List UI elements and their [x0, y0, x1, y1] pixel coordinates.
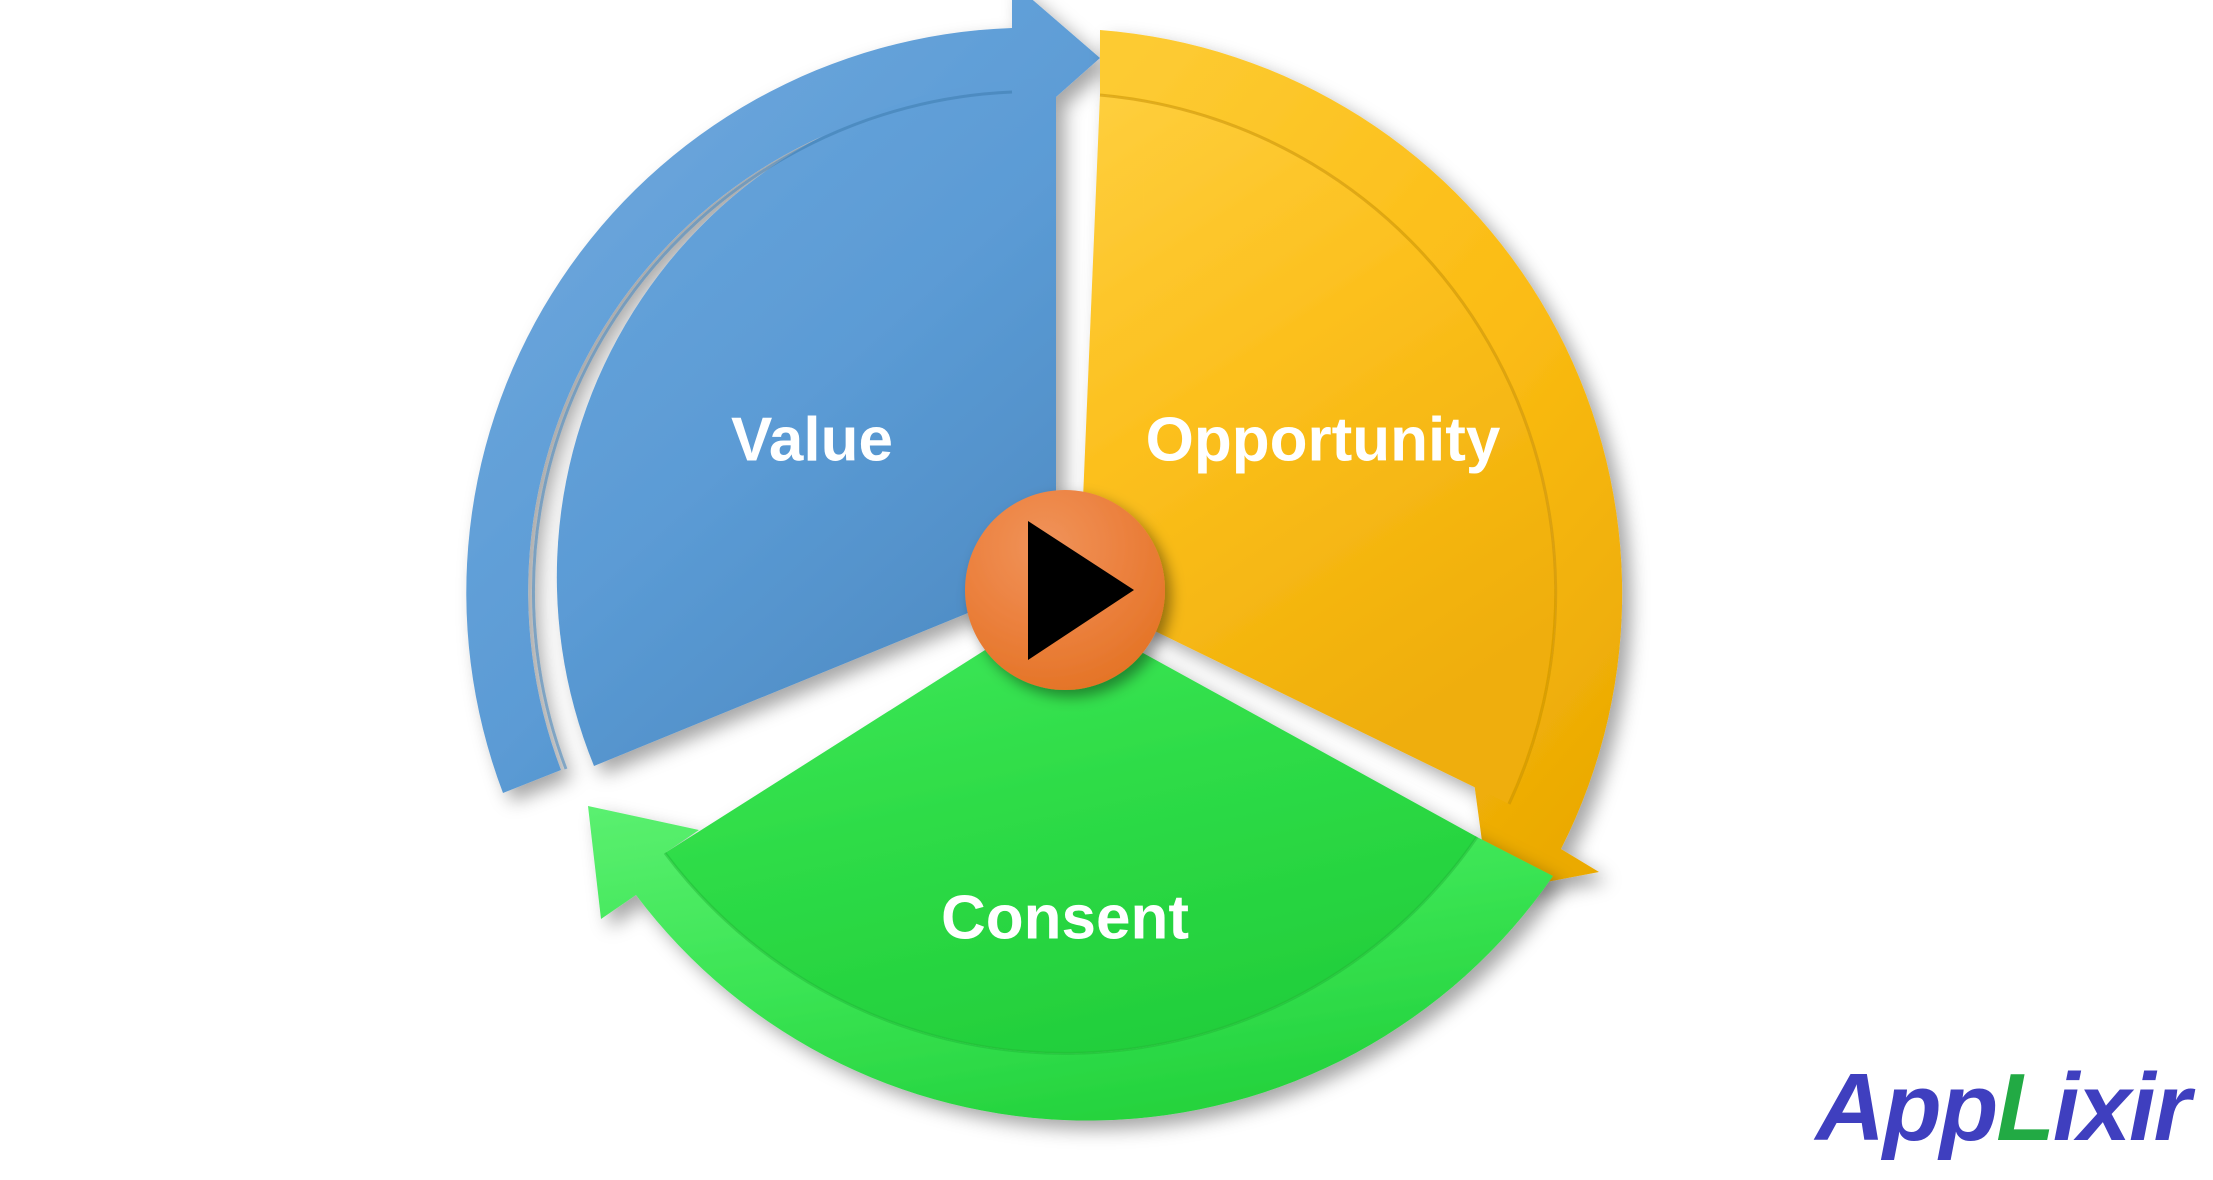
segment-consent-label: Consent: [941, 884, 1189, 953]
diagram-canvas: Value Opportunity Consent AppLixir: [0, 0, 2213, 1180]
logo-part-ixir: ixir: [2053, 1054, 2189, 1161]
cycle-diagram: Value Opportunity Consent: [0, 0, 2213, 1180]
applixir-logo: AppLixir: [1816, 1060, 2189, 1156]
segment-opportunity-label: Opportunity: [1146, 406, 1501, 475]
center-play-button[interactable]: [965, 490, 1165, 690]
segment-value-label: Value: [731, 406, 893, 475]
logo-part-app: App: [1816, 1054, 1997, 1161]
logo-part-l: L: [1996, 1054, 2053, 1161]
